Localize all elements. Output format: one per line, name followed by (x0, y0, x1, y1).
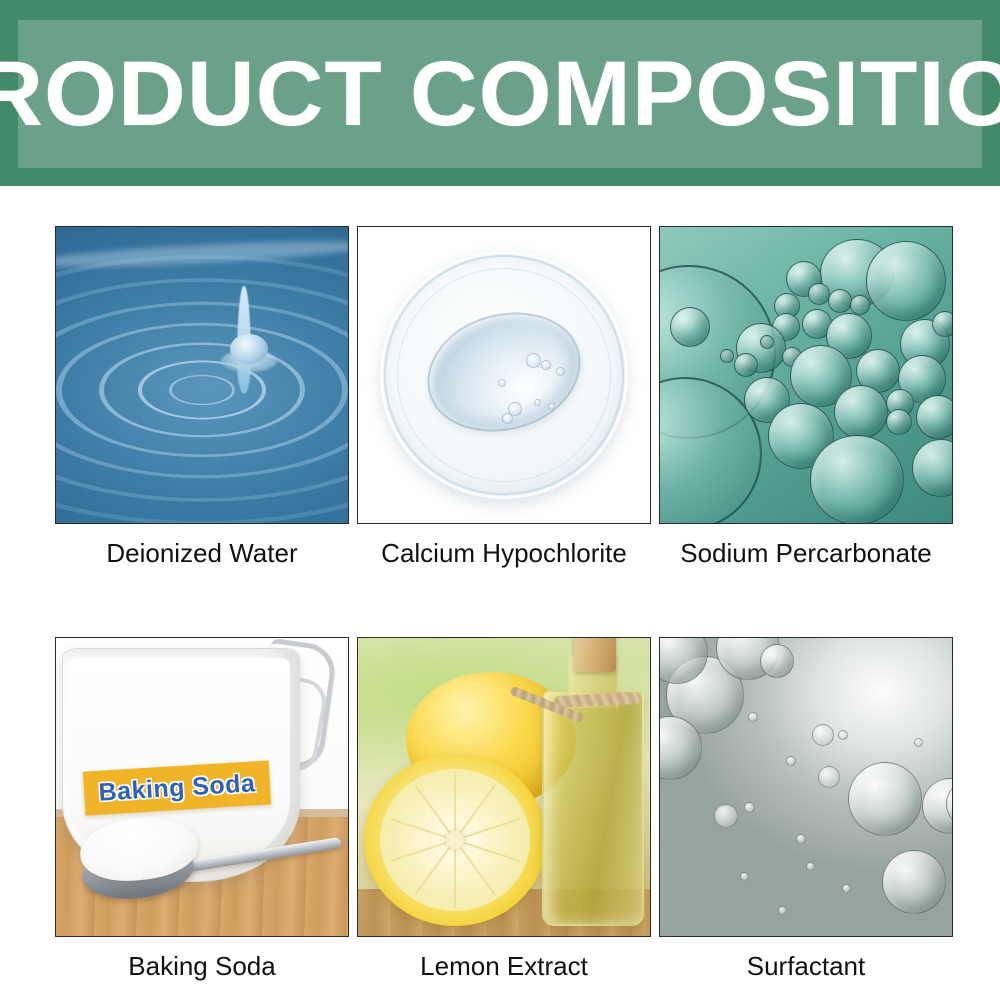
teal-bubble (810, 435, 904, 524)
droplet-head (230, 334, 268, 364)
teal-bubble (734, 353, 758, 377)
surfactant-image (659, 637, 953, 937)
halved-lemon (364, 754, 546, 926)
cork-stopper (574, 637, 616, 672)
gel-bubble (548, 403, 555, 410)
ingredient-card-baking-soda[interactable]: Baking Soda Baking Soda (55, 637, 349, 982)
ingredient-card-sodium-percarbonate[interactable]: Sodium Percarbonate (659, 226, 953, 569)
oil-bottle (542, 690, 644, 926)
header-band: PRODUCT COMPOSITION (0, 0, 1000, 186)
ingredient-card-surfactant[interactable]: Surfactant (659, 637, 953, 982)
teal-bubble (760, 335, 774, 349)
lemon-segment (454, 840, 456, 908)
gel-bubble (502, 413, 513, 424)
gel-bubble (534, 399, 541, 406)
ingredient-caption: Sodium Percarbonate (659, 538, 953, 569)
teal-bubble (932, 311, 953, 337)
teal-bubble (670, 307, 710, 347)
ingredient-card-deionized-water[interactable]: Deionized Water (55, 226, 349, 569)
page-title: PRODUCT COMPOSITION (8, 20, 991, 168)
gel-bubble (541, 360, 551, 370)
teal-bubble (916, 395, 953, 439)
ingredient-card-lemon-extract[interactable]: Lemon Extract (357, 637, 651, 982)
baking-soda-image: Baking Soda (55, 637, 349, 937)
ingredient-caption: Surfactant (659, 951, 953, 982)
lemon-segment (454, 772, 456, 840)
ingredient-card-calcium-hypochlorite[interactable]: Calcium Hypochlorite (357, 226, 651, 569)
sodium-percarbonate-image (659, 226, 953, 524)
deionized-water-image (55, 226, 349, 524)
surfactant-bubble (760, 644, 794, 678)
teal-bubble (866, 241, 946, 321)
ingredient-caption: Deionized Water (55, 538, 349, 569)
teal-bubble (828, 289, 852, 313)
ingredient-grid: Deionized Water (55, 226, 953, 982)
surfactant-bubble (882, 850, 946, 914)
jar-label-text: Baking Soda (98, 769, 256, 808)
surfactant-bubble (848, 762, 922, 836)
ingredient-row-1: Deionized Water (55, 226, 953, 569)
teal-bubble (850, 295, 870, 315)
teal-bubble (834, 385, 888, 439)
calcium-hypochlorite-image (357, 226, 651, 524)
water-surface (56, 227, 348, 523)
gel-bubble (556, 367, 565, 376)
ingredient-caption: Calcium Hypochlorite (357, 538, 651, 569)
teal-bubble (886, 409, 912, 435)
lemon-core (446, 831, 464, 849)
header-panel: PRODUCT COMPOSITION (18, 20, 982, 168)
product-composition-infographic: PRODUCT COMPOSITION (0, 0, 1000, 1000)
gel-bubble (498, 379, 506, 387)
ingredient-row-2: Baking Soda Baking Soda (55, 637, 953, 982)
ingredient-caption: Lemon Extract (357, 951, 651, 982)
lemon-extract-image (357, 637, 651, 937)
surfactant-bubble (714, 804, 738, 828)
ingredient-caption: Baking Soda (55, 951, 349, 982)
gel-bubble (526, 353, 541, 368)
teal-bubble (808, 283, 830, 305)
teal-bubble (720, 349, 734, 363)
